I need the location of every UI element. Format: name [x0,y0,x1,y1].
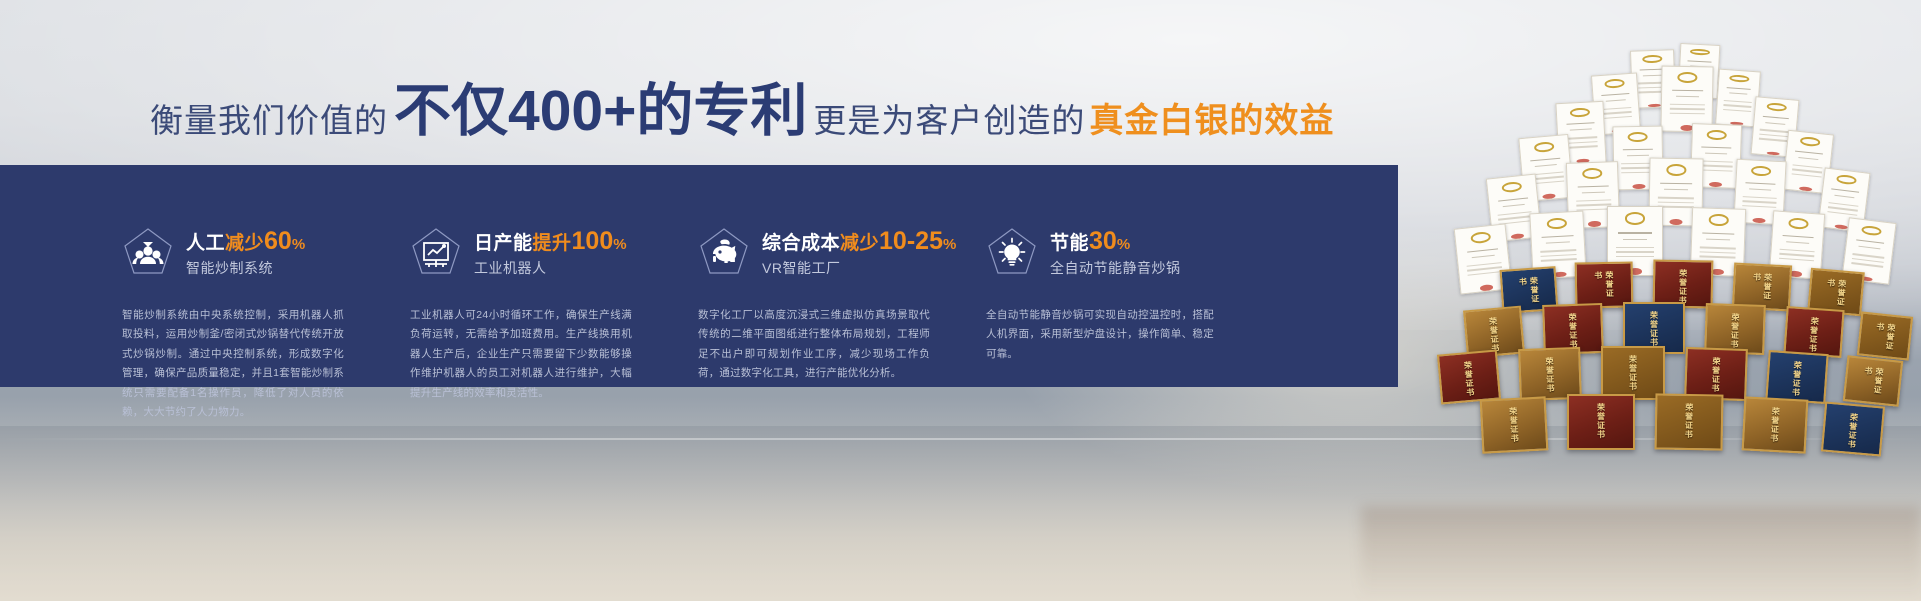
piggy-bank-icon [698,226,750,278]
headline-emphasis: 不仅400+的专利 [388,83,813,140]
lightbulb-icon [986,226,1038,278]
feature-4-subtitle: 全自动节能静音炒锅 [1050,261,1181,275]
headline-middle: 更是为客户创造的 [813,104,1085,140]
certificate-item: 荣誉证书 [1857,311,1913,360]
feature-column-4: 节能30% 全自动节能静音炒锅 全自动节能静音炒锅可实现自动控温控时，搭配人机界… [986,165,1241,387]
certificate-item: 荣誉证书 [1655,393,1724,450]
feature-3-title-number: 10-25 [879,227,943,255]
feature-1-header: 人工减少60% 智能炒制系统 [122,222,377,282]
feature-4-header: 节能30% 全自动节能静音炒锅 [986,222,1241,282]
features-panel: 人工减少60% 智能炒制系统 智能炒制系统由中央系统控制，采用机器人抓取投料，运… [0,165,1398,387]
people-group-icon [122,226,174,278]
feature-3-title-main: 综合成本 [762,233,840,254]
certificate-item: 荣誉证书 [1821,401,1885,456]
feature-column-1: 人工减少60% 智能炒制系统 智能炒制系统由中央系统控制，采用机器人抓取投料，运… [122,165,377,387]
feature-1-title-verb: 减少 [225,233,264,254]
feature-2-title-main: 日产能 [474,233,533,254]
certificate-item [1660,66,1713,133]
feature-column-2: 日产能提升100% 工业机器人 工业机器人可24小时循环工作，确保生产线满负荷运… [410,165,665,387]
certificate-item: 荣誉证书 [1480,396,1549,453]
feature-2-header: 日产能提升100% 工业机器人 [410,222,665,282]
feature-1-title: 人工减少60% [186,229,305,254]
feature-2-body: 工业机器人可24小时循环工作，确保生产线满负荷运转，无需给予加班费用。生产线换用… [410,306,632,403]
certificate-item: 荣誉证书 [1742,396,1809,453]
feature-1-title-percent: % [292,236,305,253]
feature-2-title: 日产能提升100% [474,229,627,254]
feature-1-subtitle: 智能炒制系统 [186,261,305,275]
feature-1-body: 智能炒制系统由中央系统控制，采用机器人抓取投料，运用炒制釜/密闭式炒锅替代传统开… [122,306,344,423]
feature-3-subtitle: VR智能工厂 [762,261,956,275]
chart-board-icon [410,226,462,278]
feature-1-title-number: 60 [264,227,292,255]
feature-4-title-main: 节能 [1050,233,1089,254]
feature-4-title: 节能30% [1050,229,1181,254]
certificate-item: 荣誉证书 [1437,349,1501,404]
headline-highlight: 真金白银的效益 [1085,104,1334,140]
feature-1-title-main: 人工 [186,233,225,254]
certificate-item: 荣誉证书 [1765,350,1828,404]
feature-3-title: 综合成本减少10-25% [762,229,956,254]
feature-2-subtitle: 工业机器人 [474,261,627,275]
certificate-wall: 荣誉证书荣誉证书荣誉证书荣誉证书荣誉证书荣誉证书荣誉证书荣誉证书荣誉证书荣誉证书… [1361,40,1921,510]
feature-3-title-percent: % [943,236,956,253]
certificate-item: 荣誉证书 [1601,346,1665,400]
feature-4-title-percent: % [1117,236,1130,253]
feature-2-title-number: 100 [572,227,614,255]
feature-2-title-verb: 提升 [533,233,572,254]
feature-4-body: 全自动节能静音炒锅可实现自动控温控时，搭配人机界面，采用新型炉盘设计，操作简单、… [986,306,1214,364]
certificate-item: 荣誉证书 [1843,355,1904,407]
page-headline: 衡量我们价值的 不仅400+的专利 更是为客户创造的 真金白银的效益 [150,78,1334,140]
certificate-item: 荣誉证书 [1684,347,1748,401]
feature-3-body: 数字化工厂以高度沉浸式三维虚拟仿真场景取代传统的二维平面图纸进行整体布局规划，工… [698,306,930,384]
feature-2-title-percent: % [613,236,626,253]
feature-3-title-verb: 减少 [840,233,879,254]
certificate-item: 荣誉证书 [1518,347,1582,401]
feature-4-title-number: 30 [1089,227,1117,255]
certificate-item: 荣誉证书 [1783,306,1844,358]
certificate-item: 荣誉证书 [1567,394,1635,450]
headline-lead: 衡量我们价值的 [150,104,388,140]
feature-column-3: 综合成本减少10-25% VR智能工厂 数字化工厂以高度沉浸式三维虚拟仿真场景取… [698,165,953,387]
feature-3-header: 综合成本减少10-25% VR智能工厂 [698,222,953,282]
